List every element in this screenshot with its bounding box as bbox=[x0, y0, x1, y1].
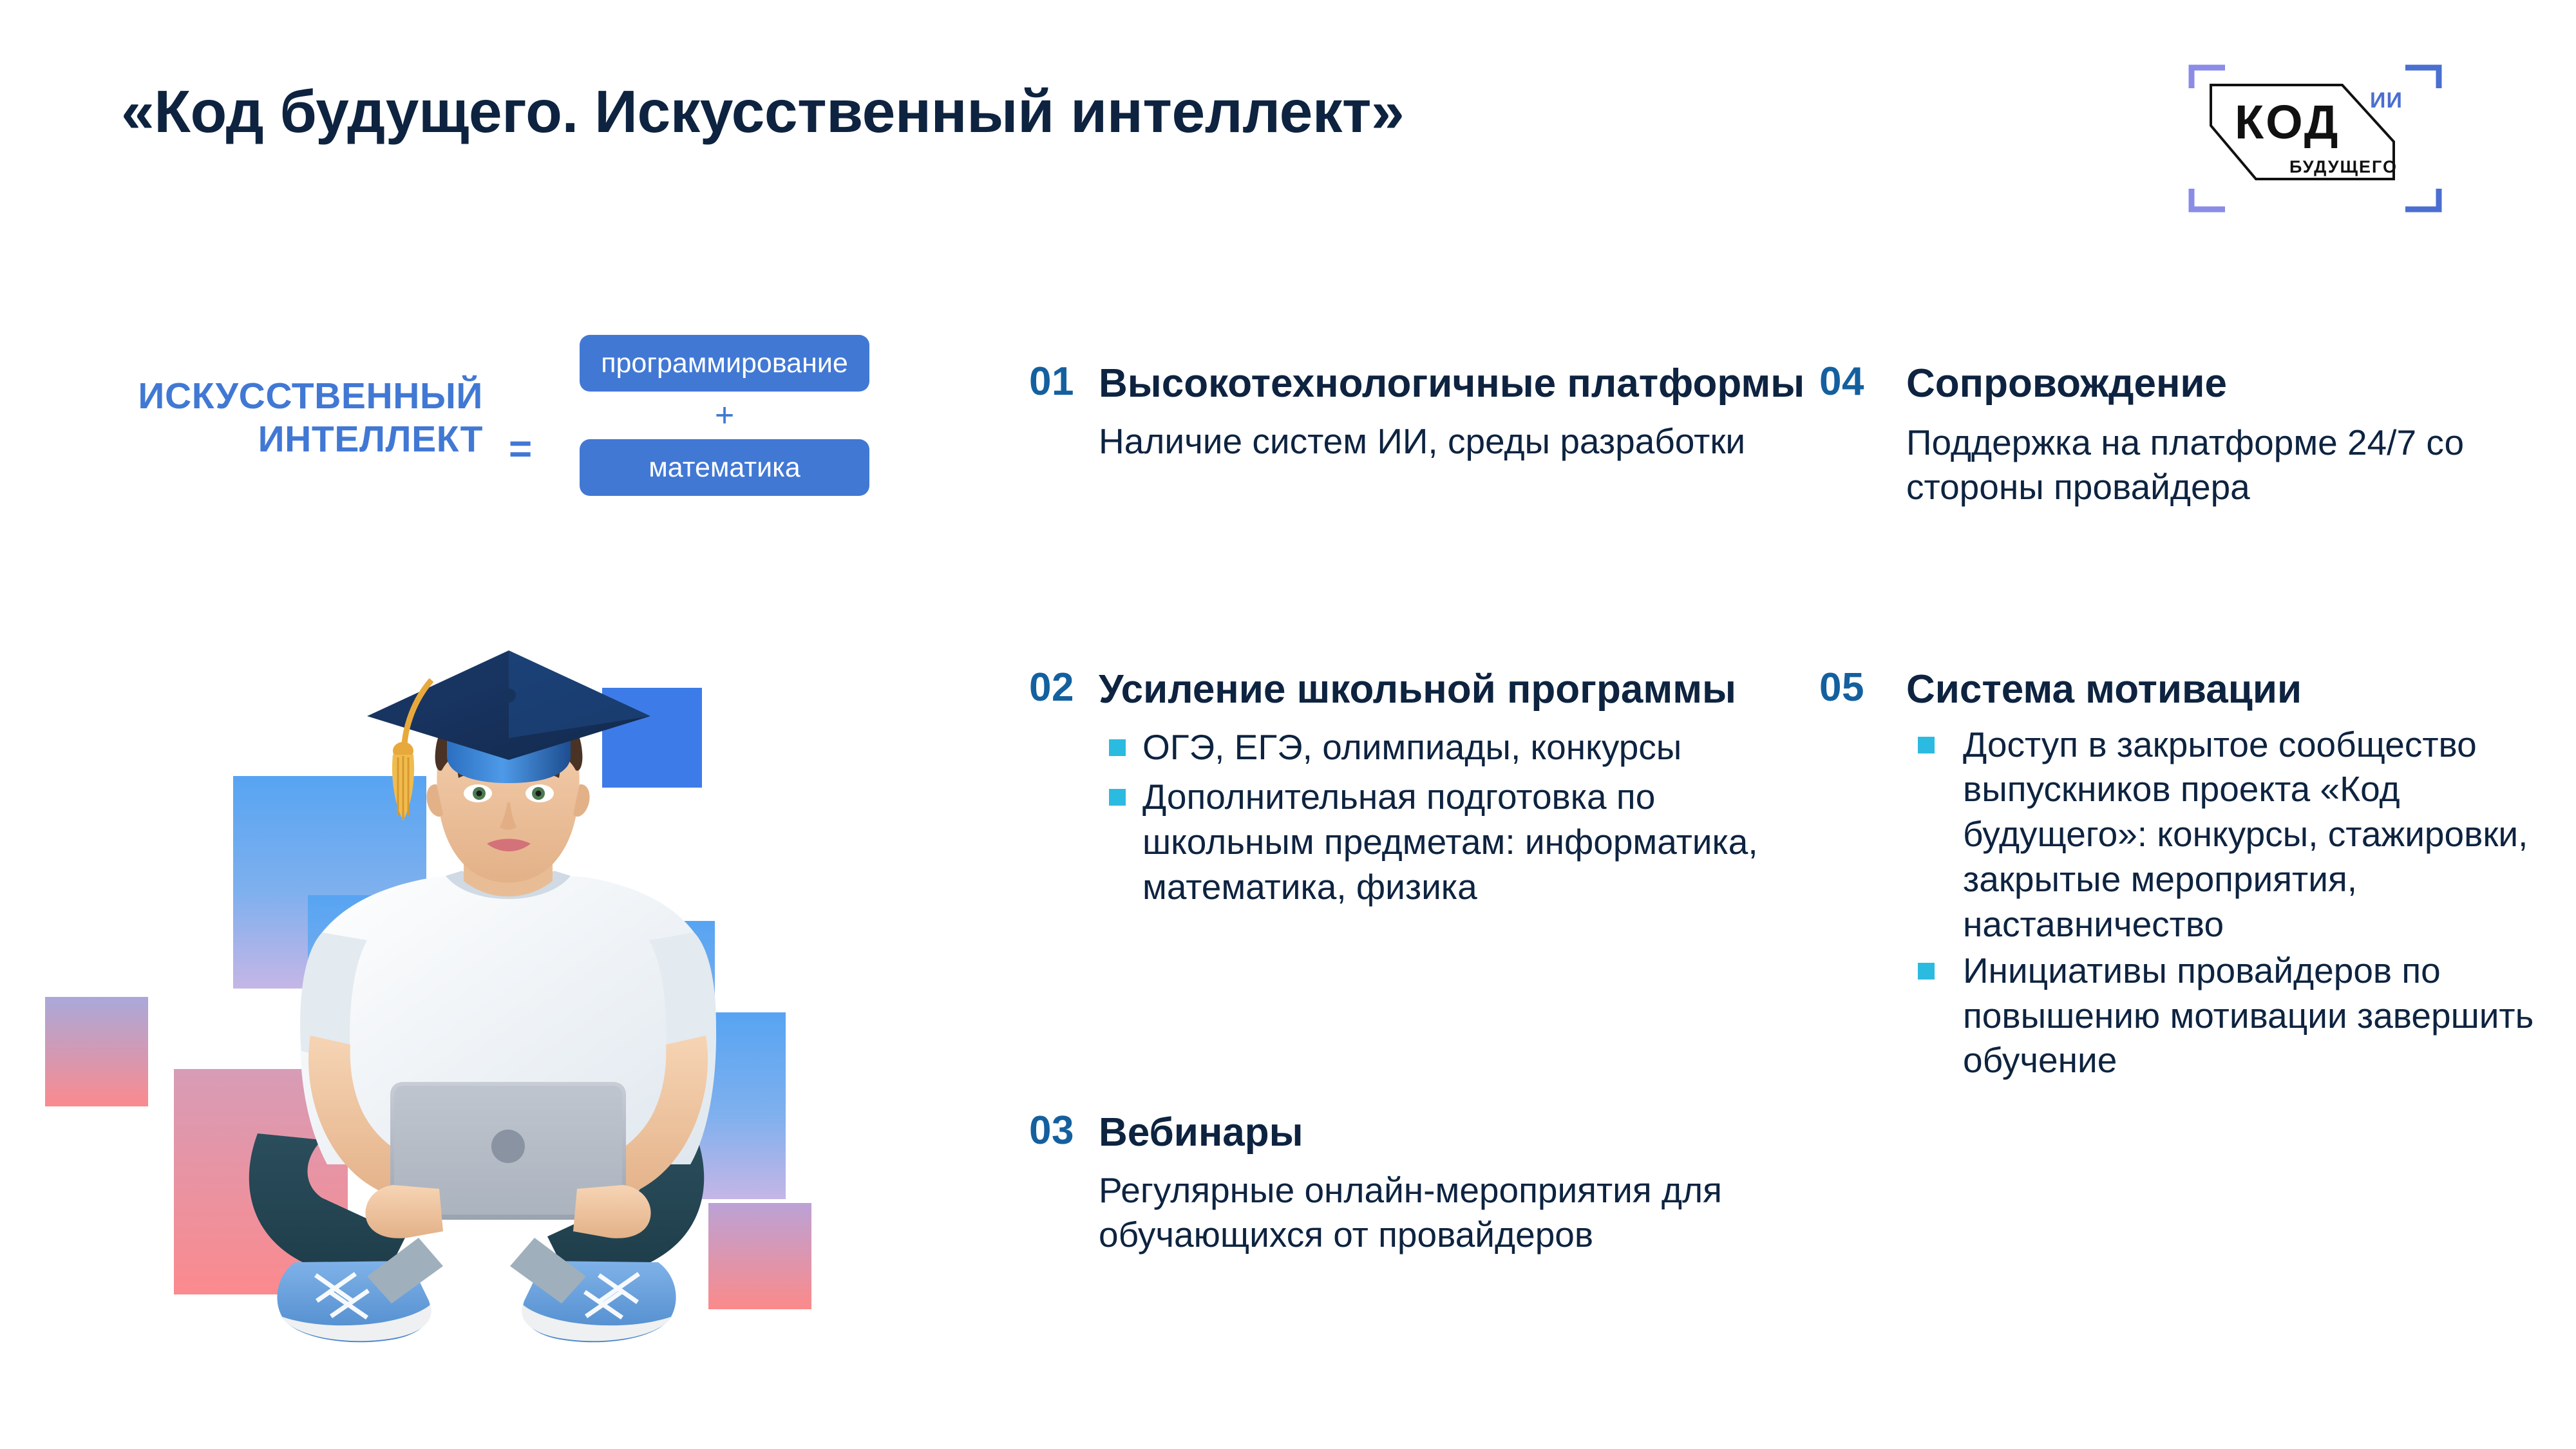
formula-label-line2: ИНТЕЛЛЕКТ bbox=[258, 419, 483, 460]
formula-box-math: математика bbox=[580, 439, 869, 496]
feature-body-05: Система мотивации Доступ в закрытое сооб… bbox=[1906, 667, 2547, 1084]
feature-bullets-05: Доступ в закрытое сообщество выпускников… bbox=[1906, 723, 2547, 1084]
plus-sign: + bbox=[580, 392, 869, 439]
list-item: Инициативы провайдеров по повышению моти… bbox=[1906, 949, 2547, 1084]
equals-sign: = bbox=[509, 430, 532, 469]
feature-number-02: 02 bbox=[1029, 667, 1074, 708]
list-item: Доступ в закрытое сообщество выпускников… bbox=[1906, 723, 2547, 947]
feature-number-01: 01 bbox=[1029, 361, 1074, 402]
hand-right bbox=[573, 1185, 651, 1238]
feature-number-03: 03 bbox=[1029, 1110, 1074, 1151]
feature-heading-04: Сопровождение bbox=[1906, 361, 2547, 408]
feature-description-01: Наличие систем ИИ, среды разработки bbox=[1099, 419, 1804, 464]
bullet-square-icon bbox=[1109, 739, 1126, 756]
cap-button bbox=[502, 688, 516, 703]
pink-square-left bbox=[45, 997, 148, 1106]
bullet-square-icon bbox=[1918, 963, 1935, 980]
bullet-text: Доступ в закрытое сообщество выпускников… bbox=[1963, 724, 2528, 944]
feature-bullets-02: ОГЭ, ЕГЭ, олимпиады, конкурсы Дополнител… bbox=[1099, 725, 1834, 910]
logo-kod-budushchego: КОД БУДУЩЕГО ИИ bbox=[2180, 61, 2450, 216]
logo-main-text: КОД bbox=[2235, 95, 2340, 149]
feature-heading-03: Вебинары bbox=[1099, 1110, 1834, 1157]
bullet-square-icon bbox=[1109, 789, 1126, 806]
formula-boxes: программирование + математика bbox=[580, 335, 869, 496]
feature-heading-01: Высокотехнологичные платформы bbox=[1099, 361, 1804, 408]
feature-description-03: Регулярные онлайн-мероприятия для обучаю… bbox=[1099, 1168, 1834, 1258]
bullet-square-icon bbox=[1918, 737, 1935, 753]
bullet-text: Инициативы провайдеров по повышению моти… bbox=[1963, 951, 2533, 1081]
feature-heading-02: Усиление школьной программы bbox=[1099, 667, 1834, 714]
formula-label-line1: ИСКУССТВЕННЫЙ bbox=[138, 375, 483, 417]
formula-box-programming: программирование bbox=[580, 335, 869, 392]
feature-number-04: 04 bbox=[1819, 361, 1864, 402]
list-item: Дополнительная подготовка по школьным пр… bbox=[1099, 775, 1834, 910]
page-title: «Код будущего. Искусственный интеллект» bbox=[121, 77, 1404, 146]
feature-description-04: Поддержка на платформе 24/7 со стороны п… bbox=[1906, 421, 2547, 511]
feature-body-04: Сопровождение Поддержка на платформе 24/… bbox=[1906, 361, 2547, 510]
feature-body-02: Усиление школьной программы ОГЭ, ЕГЭ, ол… bbox=[1099, 667, 1834, 915]
list-item: ОГЭ, ЕГЭ, олимпиады, конкурсы bbox=[1099, 725, 1834, 770]
logo-sub-text: БУДУЩЕГО bbox=[2289, 157, 2398, 176]
feature-body-01: Высокотехнологичные платформы Наличие си… bbox=[1099, 361, 1804, 464]
student-illustration bbox=[45, 618, 908, 1365]
logo-badge-text: ИИ bbox=[2370, 88, 2403, 113]
slide-root: «Код будущего. Искусственный интеллект» … bbox=[0, 0, 2576, 1449]
feature-number-05: 05 bbox=[1819, 667, 1864, 708]
feature-body-03: Вебинары Регулярные онлайн-мероприятия д… bbox=[1099, 1110, 1834, 1258]
formula-block: ИСКУССТВЕННЫЙ ИНТЕЛЛЕКТ = программирован… bbox=[122, 335, 869, 547]
bullet-text: ОГЭ, ЕГЭ, олимпиады, конкурсы bbox=[1142, 727, 1681, 767]
pink-square-bottom-right bbox=[708, 1203, 811, 1309]
formula-label: ИСКУССТВЕННЫЙ ИНТЕЛЛЕКТ bbox=[122, 375, 483, 462]
laptop-logo bbox=[491, 1130, 525, 1163]
bullet-text: Дополнительная подготовка по школьным пр… bbox=[1142, 777, 1758, 907]
feature-heading-05: Система мотивации bbox=[1906, 667, 2547, 714]
hand-left bbox=[365, 1185, 443, 1238]
